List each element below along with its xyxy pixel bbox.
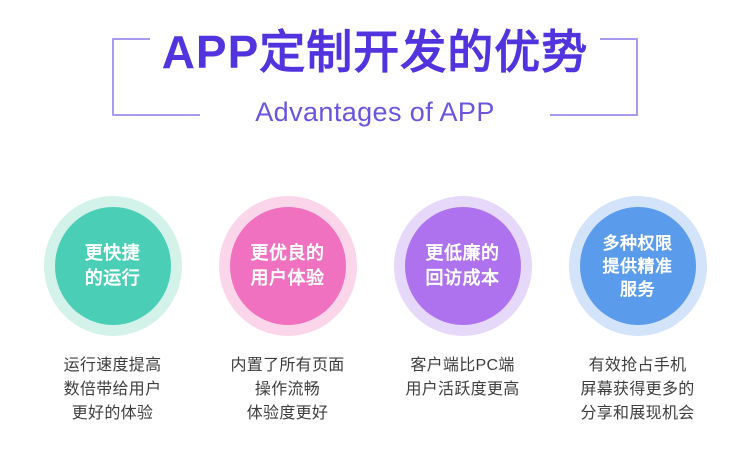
bubble-2: 更优良的 用户体验 (230, 207, 346, 325)
advantage-card-2: 更优良的 用户体验 内置了所有页面 操作流畅 体验度更好 (200, 196, 375, 426)
bubble-4: 多种权限 提供精准 服务 (580, 207, 696, 325)
caption-line: 数倍带给用户 (64, 378, 162, 402)
caption-line: 客户端比PC端 (405, 354, 519, 378)
bubble-line: 提供精准 (603, 255, 673, 278)
advantage-card-1: 更快捷 的运行 运行速度提高 数倍带给用户 更好的体验 (25, 196, 200, 426)
header-section: APP定制开发的优势 Advantages of APP (0, 0, 750, 170)
caption-line: 内置了所有页面 (230, 354, 344, 378)
caption-line: 用户活跃度更高 (405, 378, 519, 402)
caption-line: 运行速度提高 (64, 354, 162, 378)
bubble-line: 的运行 (85, 266, 141, 291)
caption-line: 分享和展现机会 (580, 402, 694, 426)
caption-line: 操作流畅 (230, 378, 344, 402)
bubble-line: 更快捷 (85, 241, 141, 266)
bubble-line: 用户体验 (251, 266, 325, 291)
advantage-card-4: 多种权限 提供精准 服务 有效抢占手机 屏幕获得更多的 分享和展现机会 (550, 196, 725, 426)
bubble-1: 更快捷 的运行 (55, 207, 171, 325)
bubble-wrap-2: 更优良的 用户体验 (219, 196, 357, 336)
advantage-card-3: 更低廉的 回访成本 客户端比PC端 用户活跃度更高 (375, 196, 550, 402)
bubble-line: 多种权限 (603, 232, 673, 255)
bubble-wrap-4: 多种权限 提供精准 服务 (569, 196, 707, 336)
card-caption-3: 客户端比PC端 用户活跃度更高 (405, 354, 519, 402)
bubble-wrap-1: 更快捷 的运行 (44, 196, 182, 336)
card-caption-1: 运行速度提高 数倍带给用户 更好的体验 (64, 354, 162, 426)
poster-root: APP定制开发的优势 Advantages of APP 更快捷 的运行 运行速… (0, 0, 750, 454)
card-caption-2: 内置了所有页面 操作流畅 体验度更好 (230, 354, 344, 426)
advantage-cards-row: 更快捷 的运行 运行速度提高 数倍带给用户 更好的体验 更优良的 用户体验 内置… (0, 196, 750, 446)
caption-line: 更好的体验 (64, 402, 162, 426)
caption-line: 体验度更好 (230, 402, 344, 426)
bubble-3: 更低廉的 回访成本 (405, 207, 521, 325)
caption-line: 屏幕获得更多的 (580, 378, 694, 402)
bubble-line: 更低廉的 (426, 241, 500, 266)
bubble-wrap-3: 更低廉的 回访成本 (394, 196, 532, 336)
bubble-line: 服务 (620, 278, 655, 301)
page-subtitle: Advantages of APP (0, 95, 750, 129)
bubble-line: 更优良的 (251, 241, 325, 266)
page-title: APP定制开发的优势 (0, 23, 750, 81)
caption-line: 有效抢占手机 (580, 354, 694, 378)
card-caption-4: 有效抢占手机 屏幕获得更多的 分享和展现机会 (580, 354, 694, 426)
bubble-line: 回访成本 (426, 266, 500, 291)
